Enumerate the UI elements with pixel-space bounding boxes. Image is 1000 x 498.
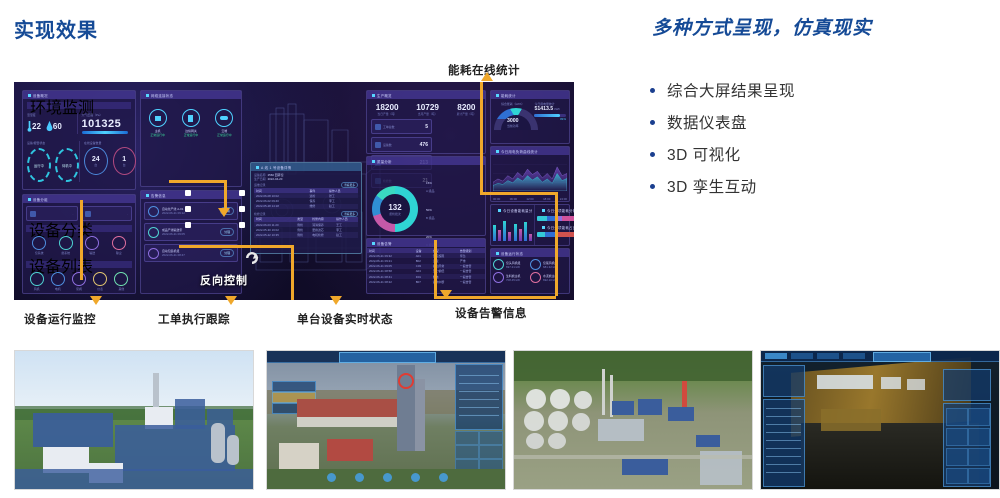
alarm-time: 2022-06-21 09:05 xyxy=(162,232,185,236)
selection-handle[interactable] xyxy=(239,206,245,212)
count-unit: 台 xyxy=(123,163,126,167)
equipment-value: 697.21 kW xyxy=(506,265,520,269)
table-row: 2022-05-22 10:35 例检 电机检修 赵工 xyxy=(254,232,358,237)
panel-title: 今日分项能耗占比 xyxy=(542,225,574,230)
page-title-left: 实现效果 xyxy=(14,14,98,43)
kpi-label: 当月产量（吨） xyxy=(416,112,439,116)
panel-title: 今日用电负荷曲线统计 xyxy=(496,149,538,154)
maintenance-table: 时间 事件 操作人员 2022-06-08 10:02 巡检 张工 2022-0… xyxy=(254,188,358,209)
twin-title-plate xyxy=(339,352,436,363)
legend-item: 50% B 级品 xyxy=(426,198,435,220)
alarm-action-button[interactable]: 处理 xyxy=(220,249,234,257)
category-icon xyxy=(32,236,46,250)
tank-farm xyxy=(524,389,596,447)
callout-arrow-down xyxy=(330,296,342,305)
list-item-label: 数据仪表盘 xyxy=(667,111,747,133)
callout-arrow-up xyxy=(481,72,493,81)
alarm-level: 一般告警 xyxy=(458,279,485,284)
device-icon-item[interactable]: 仪表 xyxy=(93,272,107,291)
usage-percent: 81% xyxy=(534,117,566,121)
nav-icon[interactable] xyxy=(327,473,336,482)
panel-header: 设备分组 xyxy=(23,195,135,203)
field-label: 生产日期 xyxy=(254,177,266,181)
panel-title: 设备运行状态 xyxy=(496,251,523,256)
summary-panel xyxy=(763,365,805,397)
connector-line xyxy=(434,240,437,296)
fan-icon xyxy=(530,259,541,270)
panel-title: A 线 1 号设备详情 xyxy=(256,165,291,170)
alarm-time: 2022-06-21 08:47 xyxy=(162,253,185,257)
camera-grid-panel xyxy=(943,403,991,487)
status-ring-label: 待机中 xyxy=(62,163,72,168)
list-item: 综合大屏结果呈现 xyxy=(650,76,980,104)
legend-item: 15% A 级品 xyxy=(426,171,435,193)
temperature-value: 22 xyxy=(32,122,41,131)
device-icon-item[interactable]: 泵阀 xyxy=(72,272,86,291)
kpi-label: 累计产量（吨） xyxy=(457,112,477,116)
office-building xyxy=(279,443,319,469)
list-item-label: 综合大屏结果呈现 xyxy=(667,79,795,101)
breakdown-bar-chart xyxy=(493,215,532,241)
energy-trend-area-chart xyxy=(493,157,567,191)
panel-subheader: 环境监测 xyxy=(27,102,131,109)
network-node-card[interactable]: 边缘网关 正常运行中 xyxy=(182,109,200,137)
usage-value: 51413.5 xyxy=(534,106,553,112)
thumbnail-cement-twin[interactable] xyxy=(266,350,506,490)
humidity-metric: 60 xyxy=(46,120,62,132)
connector-line xyxy=(480,192,558,195)
kpi-value: 10729 xyxy=(416,103,439,112)
twin-menu-button[interactable] xyxy=(272,381,316,392)
device-icon xyxy=(30,272,44,286)
forest-band xyxy=(514,351,752,381)
droplet-icon xyxy=(46,120,53,132)
field-value: 2022-04-20 xyxy=(268,177,283,181)
usage-progress-bar xyxy=(534,114,566,117)
process-unit xyxy=(668,407,694,421)
field-label: 运维记录 xyxy=(254,183,266,187)
temperature-metric: 22 xyxy=(27,120,41,132)
online-count-label: 在线设备数量 xyxy=(84,141,136,145)
panel-title: 质量分析 xyxy=(372,159,392,164)
quality-donut-chart: 132 质检批次 xyxy=(372,186,418,232)
pressure-indicator-bar xyxy=(82,131,128,134)
count-unit: 台 xyxy=(94,163,97,167)
kpi-item: 18200 当日产量（吨） xyxy=(376,103,399,116)
category-icon-item[interactable]: 除尘 xyxy=(112,236,126,255)
connector-line xyxy=(480,82,483,194)
callout-label-realtime-status: 单台设备实时状态 xyxy=(297,311,393,327)
bullet-dot-icon xyxy=(650,184,655,189)
panel-device-alarm-table: 设备告警 时间 设备 类型 告警级别 2022-06-21 09:32 A01 … xyxy=(366,238,486,294)
thumbnail-indoor-twin[interactable] xyxy=(760,350,1000,490)
reverse-control-label: 反向控制 xyxy=(200,272,248,288)
status-label: 设备/报警状态 xyxy=(27,141,79,145)
status-ring-running: 运行中 xyxy=(27,148,51,182)
x-tick: 18:00 xyxy=(543,197,550,201)
device-icon-item[interactable]: 其他 xyxy=(114,272,128,291)
network-node-card[interactable]: 主机 正常运行中 xyxy=(149,109,167,137)
thumbnail-refinery[interactable] xyxy=(513,350,753,490)
equipment-item: 窑尾风机组 681.32 kW xyxy=(530,259,567,270)
page-title-right: 多种方式呈现，仿真现实 xyxy=(652,13,872,40)
kpi-row: 18200 当日产量（吨） 10729 当月产量（吨） 8200 累计产量（吨） xyxy=(367,99,485,116)
panel-title: 告警信息 xyxy=(146,193,166,198)
node-status: 正常运行中 xyxy=(149,133,167,137)
connector-line xyxy=(80,200,83,280)
panel-header: 生产概览 xyxy=(367,91,485,99)
panel-model-detail-popup: A 线 1 号设备详情 设备名称 2560 回转窑 生产日期 2022-04-2… xyxy=(250,162,362,254)
gauge-title: 综合能耗（kWh） xyxy=(494,102,531,106)
nav-tab[interactable] xyxy=(791,353,813,359)
panel-quality-analysis: 质量分析 132 质检批次 15% A 级品 50% B 级品 xyxy=(366,156,486,236)
factory-wall xyxy=(297,417,397,427)
process-unit xyxy=(696,435,720,447)
status-ring-label: 运行中 xyxy=(34,163,44,168)
cloud-icon xyxy=(215,109,233,127)
alarm-table: 时间 设备 类型 告警级别 2022-06-21 09:32 A01 温度超限 … xyxy=(367,248,485,284)
slide-root: 实现效果 多种方式呈现，仿真现实 综合大屏结果呈现 数据仪表盘 3D 可视化 3… xyxy=(0,0,1000,498)
panel-equipment-status: 设备运行状态 窑头风机组 697.21 kW 窑尾风机组 681.32 kW 生… xyxy=(490,248,570,294)
selection-handle[interactable] xyxy=(185,190,191,196)
twin-title-plate xyxy=(873,352,931,362)
panel-subheader: 设备列表 xyxy=(26,261,132,268)
node-status: 正常运行中 xyxy=(182,133,200,137)
x-tick: 24:00 xyxy=(560,197,567,201)
count-value: 1 xyxy=(122,156,126,163)
legend-name: A 级品 xyxy=(426,189,435,193)
device-icon xyxy=(72,272,86,286)
table-row: 2022-05-28 14:18 维修 赵工 xyxy=(254,204,358,209)
device-icon xyxy=(114,272,128,286)
process-unit xyxy=(622,459,668,475)
twin-stat-cell xyxy=(455,431,479,445)
bullet-dot-icon xyxy=(650,152,655,157)
rotate-cursor-icon[interactable] xyxy=(244,250,260,266)
pipe-rack xyxy=(598,419,644,441)
panel-header: 网络连接状态 xyxy=(141,91,241,99)
panel-header: A 线 1 号设备详情 xyxy=(251,163,361,171)
list-item[interactable]: 成品产线输送带 2022-06-21 09:05 处理 xyxy=(144,223,238,241)
table-row: 2022-06-21 08:22 B07 通信中断 一般告警 xyxy=(367,279,485,284)
twin-bottom-nav[interactable] xyxy=(317,473,457,483)
usage-unit: kWh xyxy=(554,107,560,111)
hotspot-marker[interactable] xyxy=(398,373,414,389)
panel-network-status: 网络连接状态 主机 正常运行中 边缘网关 正常运行中 xyxy=(140,90,242,187)
device-icon-item[interactable]: 风机 xyxy=(30,272,44,291)
selection-handle[interactable] xyxy=(185,222,191,228)
legend-pct: 15% xyxy=(426,181,432,185)
callout-arrow-down xyxy=(440,290,452,299)
panel-header: 能耗统计 xyxy=(491,91,569,99)
feature-bullet-list: 综合大屏结果呈现 数据仪表盘 3D 可视化 3D 孪生互动 xyxy=(650,76,980,204)
list-item: 3D 可视化 xyxy=(650,140,980,168)
gateway-icon xyxy=(182,109,200,127)
panel-subheader: 设备分类 xyxy=(26,225,132,232)
panel-device-group: 设备分组 · · 设备分类 xyxy=(22,194,136,294)
kpi-label: 当日产量（吨） xyxy=(376,112,399,116)
flare-stack xyxy=(602,369,605,415)
twin-side-panel xyxy=(455,364,503,430)
map-panel xyxy=(943,369,991,401)
category-icon xyxy=(85,236,99,250)
alarm-icon xyxy=(148,248,159,259)
list-item-label: 3D 孪生互动 xyxy=(667,175,757,197)
dashboard-screenshot: 设备概况 环境监测 温湿度 xyxy=(14,82,574,300)
nav-icon[interactable] xyxy=(355,473,364,482)
window-band xyxy=(907,379,925,390)
nav-tab[interactable] xyxy=(843,353,865,359)
donut-center-value: 132 xyxy=(388,203,401,212)
panel-title: 设备分组 xyxy=(28,197,48,202)
equipment-item: 生料磨主机 708.45 kW xyxy=(493,272,530,283)
thumbnail-chemical-plant[interactable] xyxy=(14,350,254,490)
category-icon xyxy=(112,236,126,250)
twin-stat-cell xyxy=(455,445,479,459)
x-tick: 06:00 xyxy=(510,197,517,201)
nav-icon[interactable] xyxy=(383,473,392,482)
sky-backdrop xyxy=(15,351,253,414)
storage-tank xyxy=(211,423,225,463)
equipment-item: 窑头风机组 697.21 kW xyxy=(493,259,530,270)
nav-tab[interactable] xyxy=(817,353,839,359)
bullet-dot-icon xyxy=(650,120,655,125)
callout-arrow-down xyxy=(225,296,237,305)
callout-label-workorder: 工单执行跟踪 xyxy=(158,311,230,327)
access-road xyxy=(514,455,752,459)
device-icon xyxy=(51,272,65,286)
connector-line xyxy=(291,245,294,300)
network-node-card[interactable]: 云端 正常运行中 xyxy=(215,109,233,137)
online-count-secondary: 1 台 xyxy=(113,147,137,175)
plant-structure xyxy=(33,413,113,447)
equipment-name: 窑头风机组 xyxy=(506,261,520,265)
alarm-time: 2022-06-21 09:12 xyxy=(162,211,185,215)
panel-energy-gauge: 能耗统计 综合能耗（kWh） 3000 当前功率 今日用电量统计 51413.5… xyxy=(490,90,570,144)
panel-title: 今日设备能耗量分析 xyxy=(498,208,532,213)
alarm-icon xyxy=(148,206,159,217)
plant-foreground xyxy=(15,469,253,489)
device-icon xyxy=(93,272,107,286)
kpi-value: 18200 xyxy=(376,103,399,112)
detail-list-panel xyxy=(763,399,805,487)
bullet-dot-icon xyxy=(650,88,655,93)
connector-arrow xyxy=(218,208,230,217)
process-unit xyxy=(638,399,662,415)
process-unit xyxy=(612,401,634,415)
stat-value: 476 xyxy=(420,142,428,148)
alarm-action-button[interactable]: 处理 xyxy=(220,228,234,236)
twin-stat-cell xyxy=(479,431,503,445)
factory-roof xyxy=(297,399,397,417)
kpi-item: 10729 当月产量（吨） xyxy=(416,103,439,116)
gauge-label: 当前功率 xyxy=(494,124,531,128)
selection-handle[interactable] xyxy=(239,190,245,196)
status-ring-standby: 待机中 xyxy=(55,148,79,182)
panel-header: 今日设备能耗量分析 xyxy=(493,207,532,213)
selection-handle[interactable] xyxy=(185,206,191,212)
window-band xyxy=(817,375,873,389)
stat-label: 设备数 xyxy=(383,143,392,147)
x-tick: 00:00 xyxy=(493,197,500,201)
count-value: 24 xyxy=(92,156,100,163)
panel-header: 设备告警 xyxy=(367,239,485,247)
stat-card: 工单总数 5 xyxy=(371,119,432,134)
device-count-icon xyxy=(375,142,381,148)
window-band xyxy=(881,377,901,389)
connector-line xyxy=(434,296,556,299)
alarm-icon xyxy=(148,227,159,238)
kpi-value: 8200 xyxy=(457,103,477,112)
list-item-label: 3D 可视化 xyxy=(667,143,741,165)
x-tick: 12:00 xyxy=(526,197,533,201)
fan-icon xyxy=(493,259,504,270)
metric-group-label: 温湿度 xyxy=(27,113,77,117)
nav-icon[interactable] xyxy=(439,473,448,482)
stat-label: 工单总数 xyxy=(383,125,395,129)
twin-topbar xyxy=(761,351,999,362)
selection-handle[interactable] xyxy=(239,222,245,228)
node-status: 正常运行中 xyxy=(215,133,233,137)
connector-line xyxy=(555,192,558,296)
equipment-value: 708.45 kW xyxy=(506,278,520,282)
legend-name: B 级品 xyxy=(426,216,435,220)
panel-title: 今日分项能耗分析 xyxy=(542,208,574,213)
callout-label-monitoring: 设备运行监控 xyxy=(24,311,96,327)
humidity-value: 60 xyxy=(53,122,62,131)
server-icon xyxy=(149,109,167,127)
panel-header: 今日用电负荷曲线统计 xyxy=(491,147,569,155)
preheater-tower xyxy=(415,379,425,451)
list-item: 数据仪表盘 xyxy=(650,108,980,136)
nav-icon[interactable] xyxy=(411,473,420,482)
panel-device-overview: 设备概况 环境监测 温湿度 xyxy=(22,90,136,190)
twin-stat-cell xyxy=(479,445,503,459)
kpi-item: 8200 累计产量（吨） xyxy=(457,103,477,116)
stat-card: 设备数 476 xyxy=(371,137,432,152)
panel-production-overview: 生产概览 18200 当日产量（吨） 10729 当月产量（吨） 8200 累计… xyxy=(366,90,486,154)
view-more-button[interactable]: 查看更多 xyxy=(341,182,358,188)
panel-title: 设备告警 xyxy=(372,241,392,246)
storage-tank xyxy=(227,435,239,465)
equipment-name: 生料磨主机 xyxy=(506,274,520,278)
inspection-table: 时间 类型 检修内容 操作人员 2022-06-03 11:20 例检 润滑保养… xyxy=(254,217,358,238)
donut-center-label: 质检批次 xyxy=(388,212,401,216)
work-order-icon xyxy=(375,124,381,130)
mill-icon xyxy=(493,272,504,283)
callout-label-alarm-info: 设备告警信息 xyxy=(455,305,527,321)
panel-title: 生产概览 xyxy=(372,93,392,98)
stat-value: 5 xyxy=(425,124,428,130)
panel-title: 能耗统计 xyxy=(496,93,516,98)
mill-icon xyxy=(530,272,541,283)
nav-tab[interactable] xyxy=(765,353,787,359)
panel-header: 质量分析 xyxy=(367,157,485,165)
connector-line xyxy=(169,180,227,183)
panel-energy-breakdown: 今日设备能耗量分析 今日分项能耗分析 xyxy=(490,204,570,246)
pressure-value: 101325 xyxy=(82,118,132,130)
callout-arrow-down xyxy=(90,296,102,305)
pressure-label: 大气压强（Pa） xyxy=(82,113,132,117)
pallet-stack xyxy=(821,409,881,431)
device-icon-item[interactable]: 电机 xyxy=(51,272,65,291)
view-more-button[interactable]: 查看更多 xyxy=(341,211,358,217)
panel-title: 网络连接状态 xyxy=(146,93,173,98)
legend-pct: 50% xyxy=(426,208,432,212)
online-count-primary: 24 台 xyxy=(84,147,108,175)
list-item: 3D 孪生互动 xyxy=(650,172,980,200)
category-icon xyxy=(59,236,73,250)
equipment-item: 水泥磨主机 692.10 kW xyxy=(530,272,567,283)
building-roof xyxy=(327,439,373,461)
connector-line xyxy=(179,245,294,248)
